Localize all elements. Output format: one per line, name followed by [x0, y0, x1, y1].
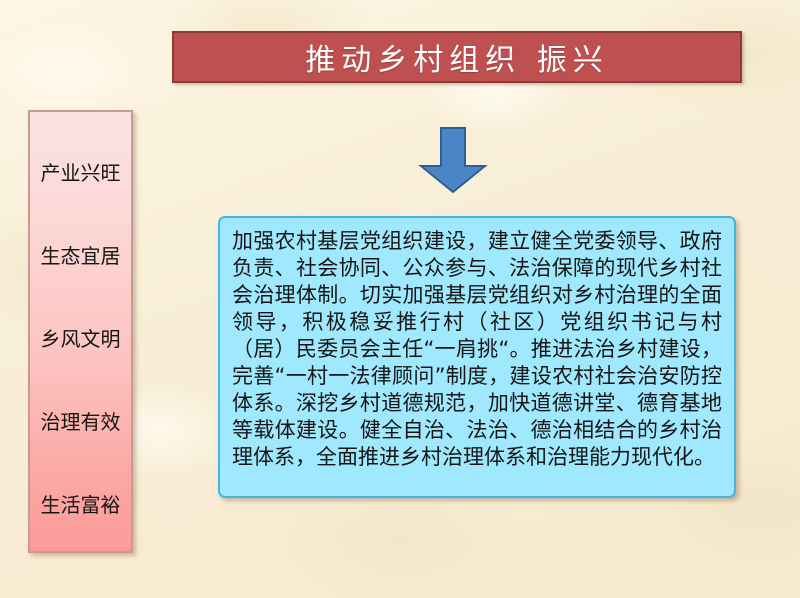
page-title: 推动乡村组织 振兴: [305, 35, 609, 79]
pillar-item-culture: 乡风文明: [30, 296, 131, 379]
content-body-text: 加强农村基层党组织建设，建立健全党委领导、政府负责、社会协同、公众参与、法治保障…: [232, 228, 722, 471]
pillar-item-industry: 产业兴旺: [30, 130, 131, 213]
pillar-item-ecology: 生态宜居: [30, 213, 131, 296]
pillar-item-label: 生活富裕: [41, 489, 121, 518]
pillar-item-prosperity: 生活富裕: [30, 462, 131, 545]
pillar-item-label: 产业兴旺: [41, 157, 121, 186]
content-panel: 加强农村基层党组织建设，建立健全党委领导、政府负责、社会协同、公众参与、法治保障…: [218, 216, 736, 498]
pillar-item-governance: 治理有效: [30, 379, 131, 462]
pillar-item-label: 生态宜居: [41, 240, 121, 269]
pillar-item-label: 乡风文明: [41, 323, 121, 352]
pillar-item-label: 治理有效: [41, 406, 121, 435]
arrow-down-icon: [417, 126, 489, 194]
slide-title-banner: 推动乡村组织 振兴: [172, 31, 742, 83]
slide-canvas: 推动乡村组织 振兴 产业兴旺 生态宜居 乡风文明 治理有效 生活富裕 加强农村基…: [0, 0, 800, 598]
pillar-list-panel: 产业兴旺 生态宜居 乡风文明 治理有效 生活富裕: [28, 110, 133, 553]
